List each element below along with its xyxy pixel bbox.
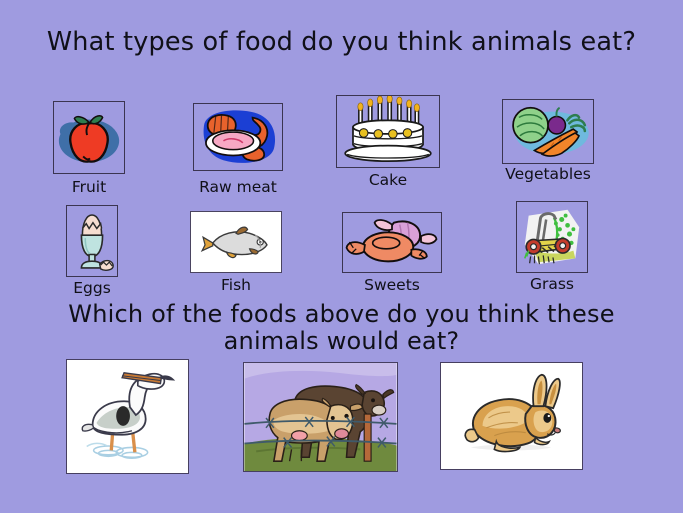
raw-meat-label: Raw meat xyxy=(193,178,283,196)
fish-image-frame xyxy=(190,211,282,273)
raw-meat-image-frame xyxy=(193,103,283,171)
egg-in-cup-icon xyxy=(67,206,117,276)
sweets-label: Sweets xyxy=(342,276,442,294)
fruit-label: Fruit xyxy=(53,178,125,196)
grass-image-frame xyxy=(516,201,588,273)
lawnmower-grass-icon xyxy=(517,202,587,272)
heron-bird-icon xyxy=(67,360,188,473)
apple-icon xyxy=(54,102,124,173)
wrapped-candy-icon xyxy=(343,213,441,272)
slide-canvas: What types of food do you think animals … xyxy=(0,0,683,513)
animal-photo-heron[interactable] xyxy=(66,359,189,474)
cake-label: Cake xyxy=(336,171,440,189)
grass-label: Grass xyxy=(516,275,588,293)
page-title: What types of food do you think animals … xyxy=(0,27,683,57)
secondary-question-line-2: animals would eat? xyxy=(0,328,683,355)
animal-photo-cows[interactable] xyxy=(243,362,398,472)
animal-photo-rabbit[interactable] xyxy=(440,362,583,470)
vegetables-image-frame xyxy=(502,99,594,164)
cows-behind-fence-icon xyxy=(244,363,397,471)
eggs-label: Eggs xyxy=(66,279,118,297)
eggs-image-frame xyxy=(66,205,118,277)
fish-label: Fish xyxy=(190,276,282,294)
sausages-steak-icon xyxy=(194,104,282,170)
rabbit-icon xyxy=(441,363,582,469)
birthday-cake-icon xyxy=(337,96,439,167)
vegetables-icon xyxy=(503,100,593,163)
cake-image-frame xyxy=(336,95,440,168)
fish-icon xyxy=(191,212,281,272)
sweets-image-frame xyxy=(342,212,442,273)
secondary-question-line-1: Which of the foods above do you think th… xyxy=(0,301,683,328)
secondary-question: Which of the foods above do you think th… xyxy=(0,301,683,355)
fruit-image-frame xyxy=(53,101,125,174)
vegetables-label: Vegetables xyxy=(502,165,594,183)
